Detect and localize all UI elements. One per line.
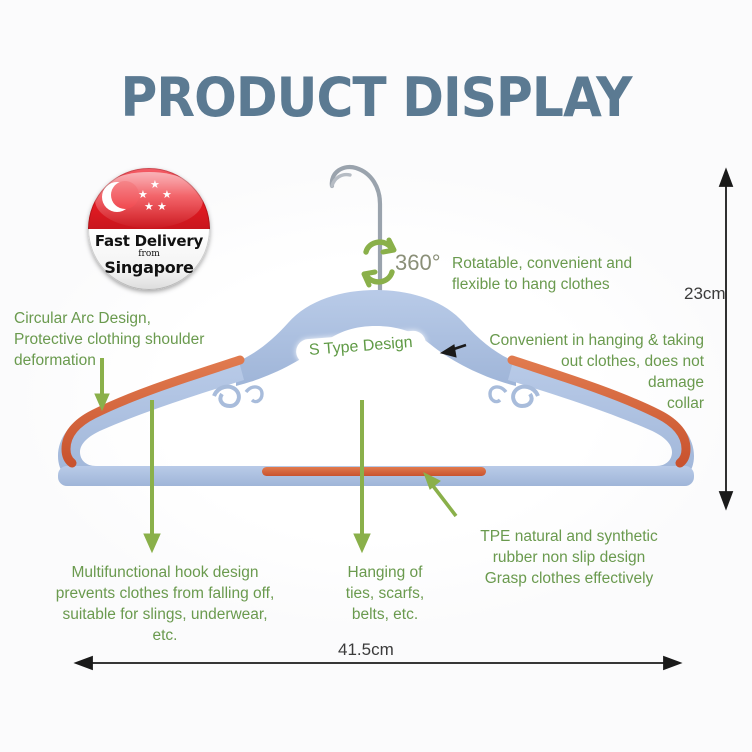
- center-bar-grip: [262, 467, 486, 476]
- callout-bar-line2: ties, scarfs,: [320, 583, 450, 604]
- product-display-infographic: PRODUCT DISPLAY ★ ★ ★ ★ ★ Fast Delivery …: [0, 0, 752, 752]
- callout-collar-line1: Convenient in hanging & taking: [468, 330, 704, 351]
- callout-arc-design: Circular Arc Design, Protective clothing…: [14, 308, 244, 371]
- callout-bar-line1: Hanging of: [320, 562, 450, 583]
- callout-collar-line2: out clothes, does not: [468, 351, 704, 372]
- callout-tpe-line2: rubber non slip design: [448, 547, 690, 568]
- callout-collar-line3: damage: [468, 372, 704, 393]
- dimension-width-label: 41.5cm: [338, 640, 394, 660]
- callout-hook-line3: suitable for slings, underwear,: [18, 604, 312, 625]
- dimension-height-label: 23cm: [684, 284, 726, 304]
- callout-rotation-line1: Rotatable, convenient and: [398, 253, 660, 274]
- callout-arc-line1: Circular Arc Design,: [14, 308, 244, 329]
- callout-tpe: TPE natural and synthetic rubber non sli…: [448, 526, 690, 589]
- callout-rotation: Rotatable, convenient and flexible to ha…: [398, 253, 660, 295]
- callout-collar-line4: collar: [468, 393, 704, 414]
- callout-arc-line2: Protective clothing shoulder: [14, 329, 244, 350]
- callout-tpe-line1: TPE natural and synthetic: [448, 526, 690, 547]
- callout-hook-line2: prevents clothes from falling off,: [18, 583, 312, 604]
- callout-hook: Multifunctional hook design prevents clo…: [18, 562, 312, 646]
- callout-arc-line3: deformation: [14, 350, 244, 371]
- callout-bar-line3: belts, etc.: [320, 604, 450, 625]
- callout-collar: Convenient in hanging & taking out cloth…: [468, 330, 704, 414]
- callout-rotation-line2: flexible to hang clothes: [398, 274, 660, 295]
- callout-bar: Hanging of ties, scarfs, belts, etc.: [320, 562, 450, 625]
- callout-hook-line1: Multifunctional hook design: [18, 562, 312, 583]
- callout-hook-line4: etc.: [18, 625, 312, 646]
- callout-tpe-line3: Grasp clothes effectively: [448, 568, 690, 589]
